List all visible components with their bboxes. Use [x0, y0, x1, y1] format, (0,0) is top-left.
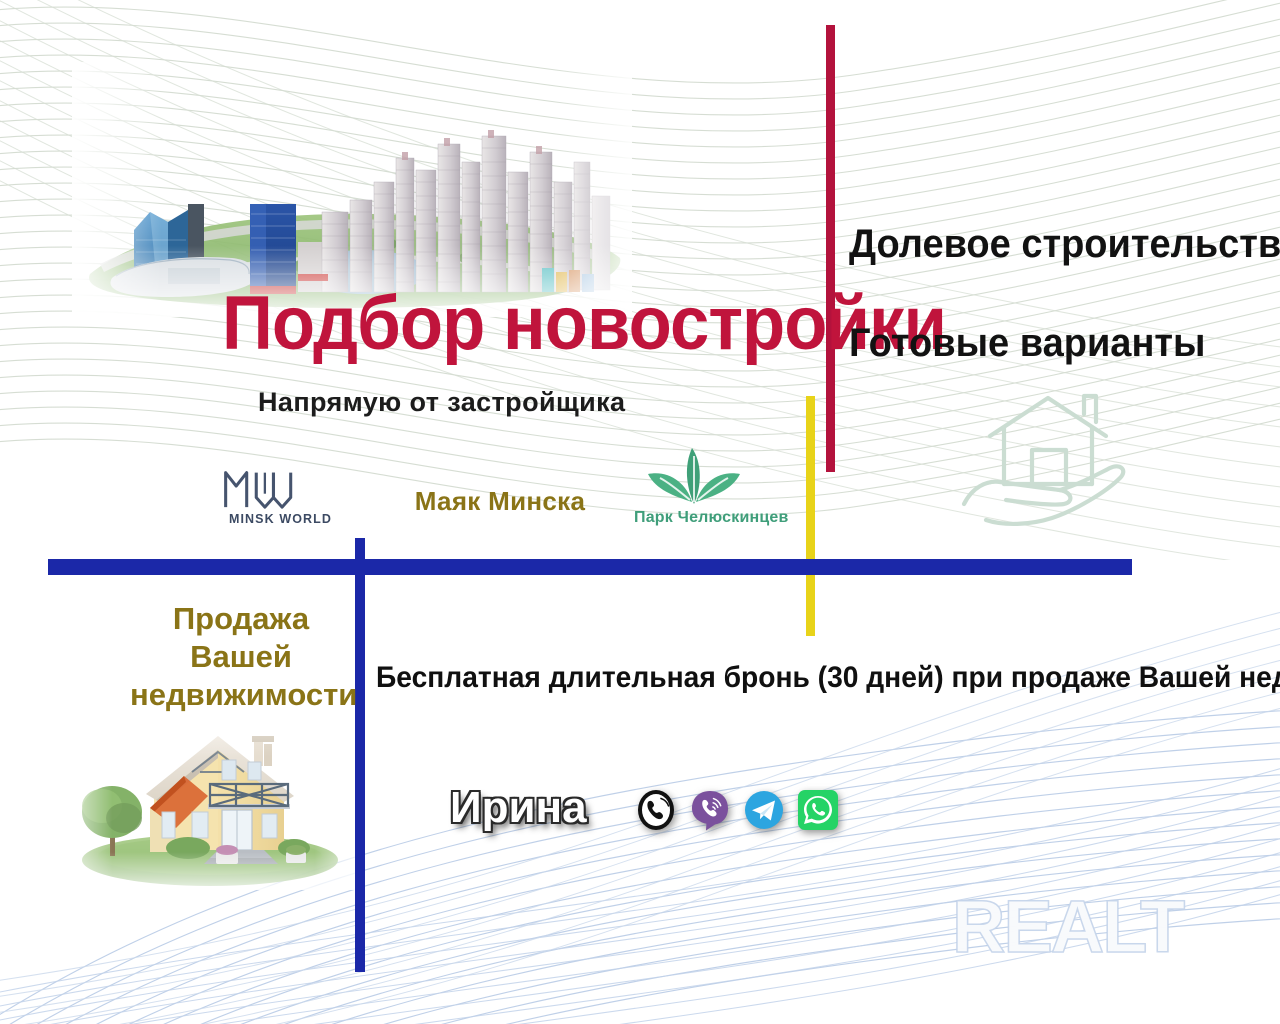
telegram-icon[interactable]	[742, 788, 786, 832]
partner-name: Маяк Минска	[410, 486, 590, 517]
realt-watermark: REALT	[952, 884, 1183, 969]
offer-ready-options: Готовые варианты	[849, 321, 1205, 366]
offer-shared-construction: Долевое строительство	[849, 222, 1280, 267]
divider-red-vertical	[826, 25, 835, 472]
partner-name: MINSK WORLD	[218, 512, 343, 526]
city-skyline-photo	[72, 62, 632, 317]
phone-icon[interactable]	[634, 788, 678, 832]
cottage-house-photo	[58, 700, 360, 890]
page-subtitle: Напрямую от застройщика	[258, 387, 625, 418]
partner-logo-minsk-world[interactable]: MINSK WORLD	[218, 465, 343, 526]
sell-property-line-1: Продажа Вашей	[130, 600, 352, 676]
sell-property-block: Продажа Вашей недвижимости	[130, 600, 352, 713]
leaf-icon	[634, 446, 754, 508]
partner-name: Парк Челюскинцев	[634, 509, 784, 527]
sell-property-line-2: недвижимости	[130, 676, 352, 714]
partner-logo-park-chelyuskintsev[interactable]: Парк Челюскинцев	[634, 446, 784, 527]
divider-yellow-vertical	[806, 396, 815, 636]
page-title: Подбор новостройки	[222, 286, 946, 362]
mw-monogram-icon	[218, 465, 306, 509]
viber-icon[interactable]	[688, 788, 732, 832]
advertisement-banner: Подбор новостройки Напрямую от застройщи…	[0, 0, 1280, 1024]
promo-free-reservation: Бесплатная длительная бронь (30 дней) пр…	[376, 661, 1280, 695]
house-in-hand-icon	[956, 392, 1134, 534]
whatsapp-icon[interactable]	[796, 788, 840, 832]
divider-blue-horizontal	[48, 559, 1132, 575]
partner-logo-mayak-minska[interactable]: Маяк Минска	[410, 486, 590, 517]
divider-blue-vertical	[355, 538, 365, 972]
agent-name: Ирина	[450, 783, 587, 833]
contact-icon-row	[634, 788, 840, 832]
